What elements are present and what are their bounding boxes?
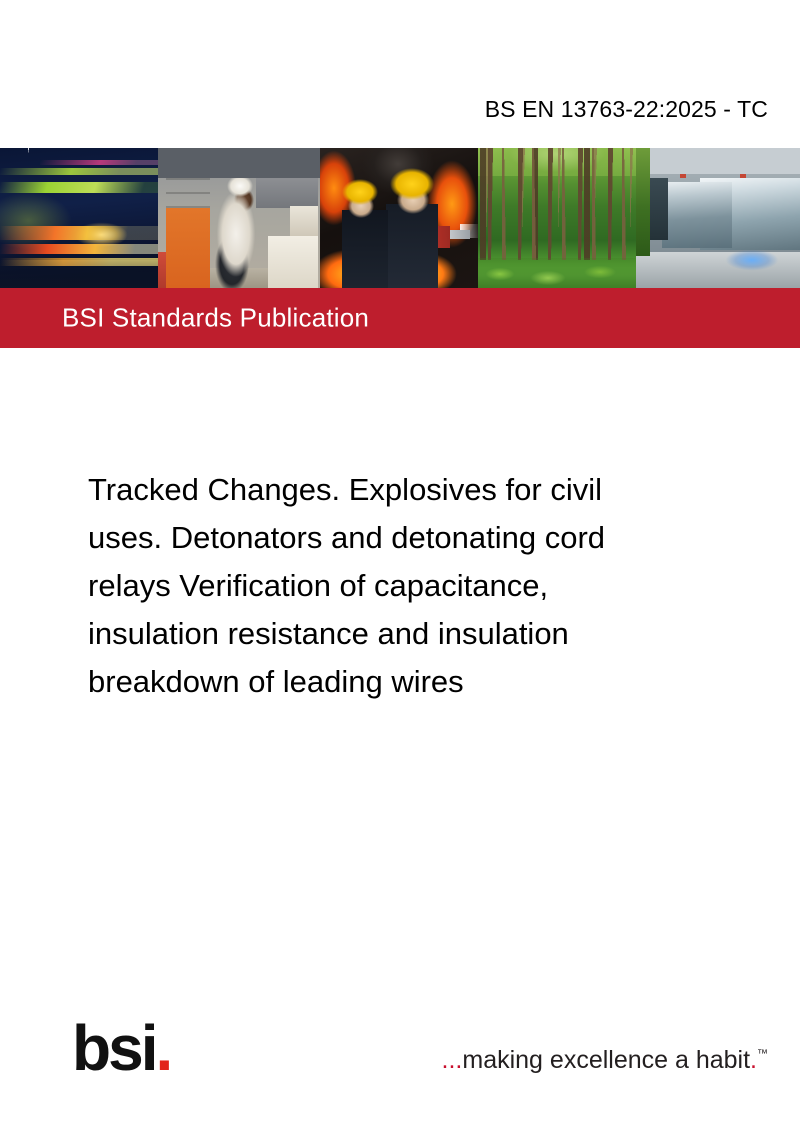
trademark-icon: ™ (757, 1048, 768, 1060)
title-line-5: breakdown of leading wires (88, 658, 688, 706)
bsi-logo: bsi. (72, 1016, 170, 1080)
title-line-4: insulation resistance and insulation (88, 610, 688, 658)
cover-image-firefighters (320, 148, 478, 288)
cover-image-warehouse-worker (158, 148, 320, 288)
cover-image-strip (0, 148, 800, 288)
bsi-logo-dot: . (155, 1012, 170, 1084)
title-line-3: relays Verification of capacitance, (88, 562, 688, 610)
bsi-logo-wordmark: bsi (72, 1012, 155, 1084)
cover-image-forest (478, 148, 636, 288)
tagline-text: making excellence a habit (462, 1046, 750, 1074)
tagline-ellipsis: ... (442, 1046, 463, 1074)
cover-image-car-assembly-line (636, 148, 800, 288)
document-reference: BS EN 13763-22:2025 - TC (485, 96, 768, 123)
standards-publication-banner: BSI Standards Publication (0, 288, 800, 348)
title-line-2: uses. Detonators and detonating cord (88, 514, 688, 562)
cover-image-night-traffic-light-trails (0, 148, 158, 288)
page-title: Tracked Changes. Explosives for civil us… (88, 466, 688, 706)
tagline-dot: . (750, 1046, 757, 1074)
banner-label: BSI Standards Publication (62, 303, 369, 334)
title-line-1: Tracked Changes. Explosives for civil (88, 466, 688, 514)
bsi-tagline: ...making excellence a habit.™ (442, 1040, 768, 1074)
